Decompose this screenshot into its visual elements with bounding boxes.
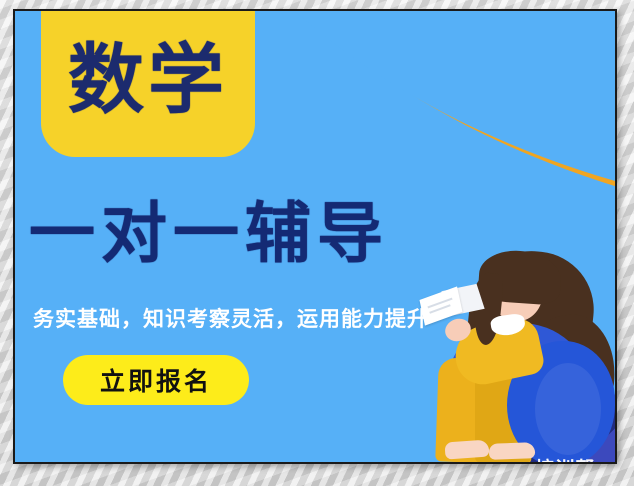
enroll-now-button[interactable]: 立即报名 <box>63 355 249 405</box>
subject-tab: 数学 <box>41 9 255 157</box>
subtitle-text: 务实基础，知识考察灵活，运用能力提升 <box>33 303 429 333</box>
enroll-now-label: 立即报名 <box>100 362 212 398</box>
left-foot-shape <box>444 439 489 459</box>
right-foot-shape <box>489 442 536 460</box>
screenshot-canvas: 数学 一对一辅导 务实基 <box>0 0 634 486</box>
seated-girl-illustration <box>419 245 617 463</box>
watermark-label: 培训帮网 <box>535 454 609 464</box>
subject-tab-label: 数学 <box>68 42 228 118</box>
knee-highlight <box>535 363 601 455</box>
headline-title: 一对一辅导 <box>29 201 389 267</box>
math-tutoring-banner: 数学 一对一辅导 务实基 <box>13 9 617 464</box>
